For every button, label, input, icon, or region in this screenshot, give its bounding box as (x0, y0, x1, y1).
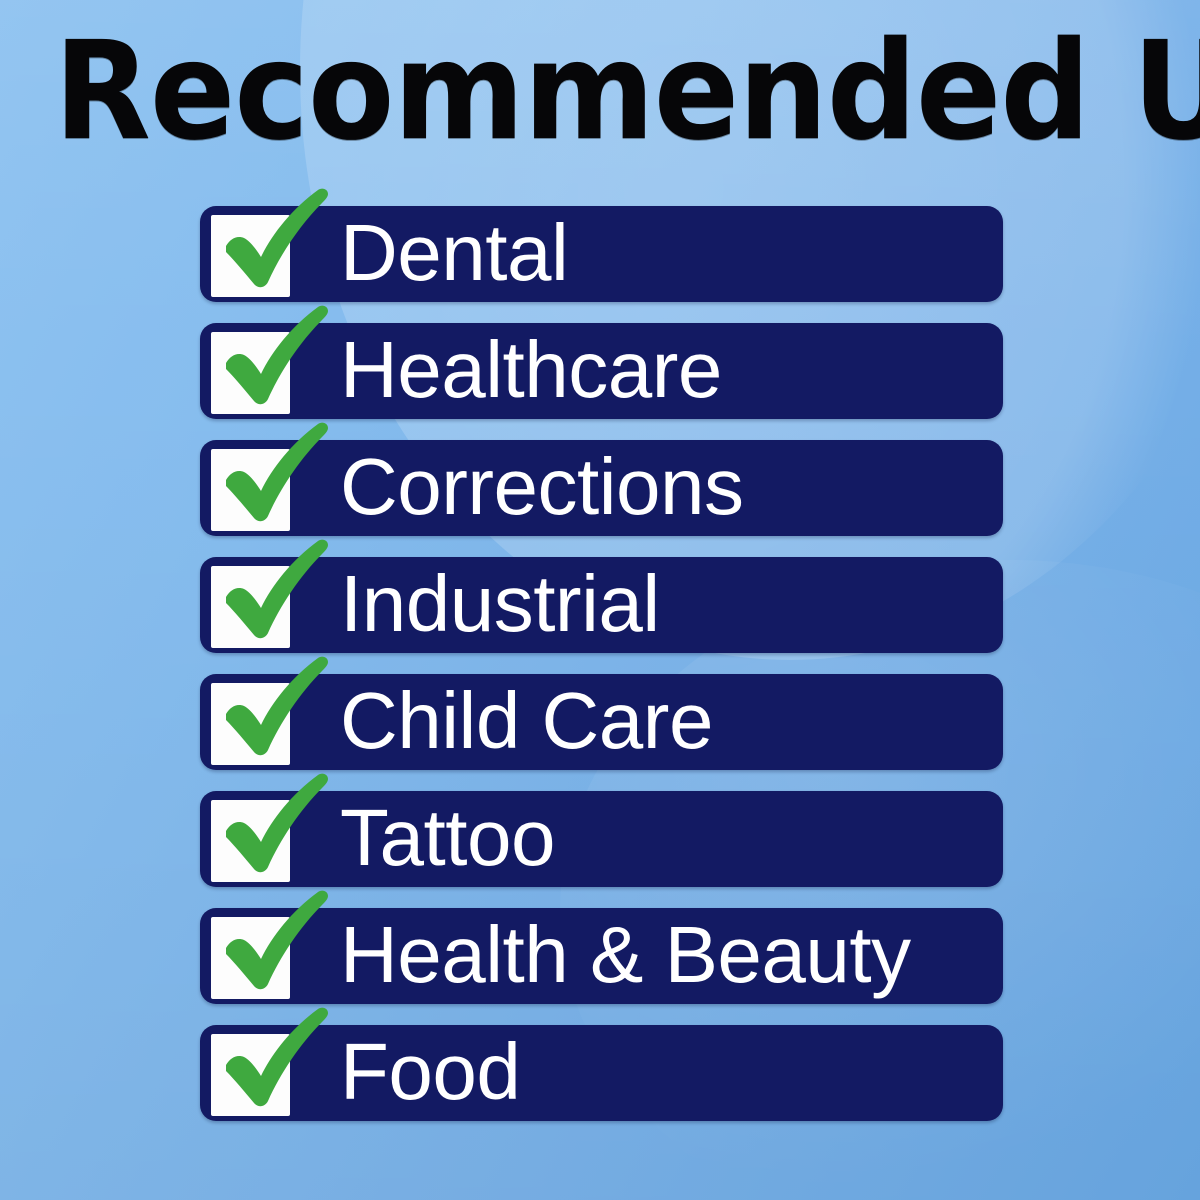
checklist-row-bar-5[interactable] (200, 791, 1003, 887)
checklist-row-label: Corrections (340, 440, 744, 536)
checklist-row[interactable]: Corrections (200, 440, 1003, 536)
page-title: Recommended Use (54, 18, 1072, 166)
checklist-row[interactable]: Tattoo (200, 791, 1003, 887)
checkbox-6[interactable] (211, 917, 290, 999)
checkbox-1[interactable] (211, 332, 290, 414)
checklist-row-label: Tattoo (340, 791, 555, 887)
checklist-row-label: Industrial (340, 557, 660, 653)
checklist-row[interactable]: Health & Beauty (200, 908, 1003, 1004)
checklist-row[interactable]: Industrial (200, 557, 1003, 653)
checklist-row-label: Health & Beauty (340, 908, 911, 1004)
checklist-row-label: Child Care (340, 674, 713, 770)
checkbox-5[interactable] (211, 800, 290, 882)
checkbox-4[interactable] (211, 683, 290, 765)
checklist-row-bar-0[interactable] (200, 206, 1003, 302)
poster-canvas: Recommended Use Dental Healthcare Correc… (0, 0, 1200, 1200)
checklist-row[interactable]: Child Care (200, 674, 1003, 770)
checklist-row-bar-7[interactable] (200, 1025, 1003, 1121)
checkbox-3[interactable] (211, 566, 290, 648)
recommended-use-checklist: Dental Healthcare Corrections Industrial… (200, 206, 1003, 1121)
checklist-row-label: Dental (340, 206, 568, 302)
checkbox-2[interactable] (211, 449, 290, 531)
checklist-row[interactable]: Healthcare (200, 323, 1003, 419)
checklist-row[interactable]: Food (200, 1025, 1003, 1121)
checkbox-7[interactable] (211, 1034, 290, 1116)
checklist-row-label: Healthcare (340, 323, 722, 419)
checklist-row-label: Food (340, 1025, 520, 1121)
checkbox-0[interactable] (211, 215, 290, 297)
checklist-row[interactable]: Dental (200, 206, 1003, 302)
